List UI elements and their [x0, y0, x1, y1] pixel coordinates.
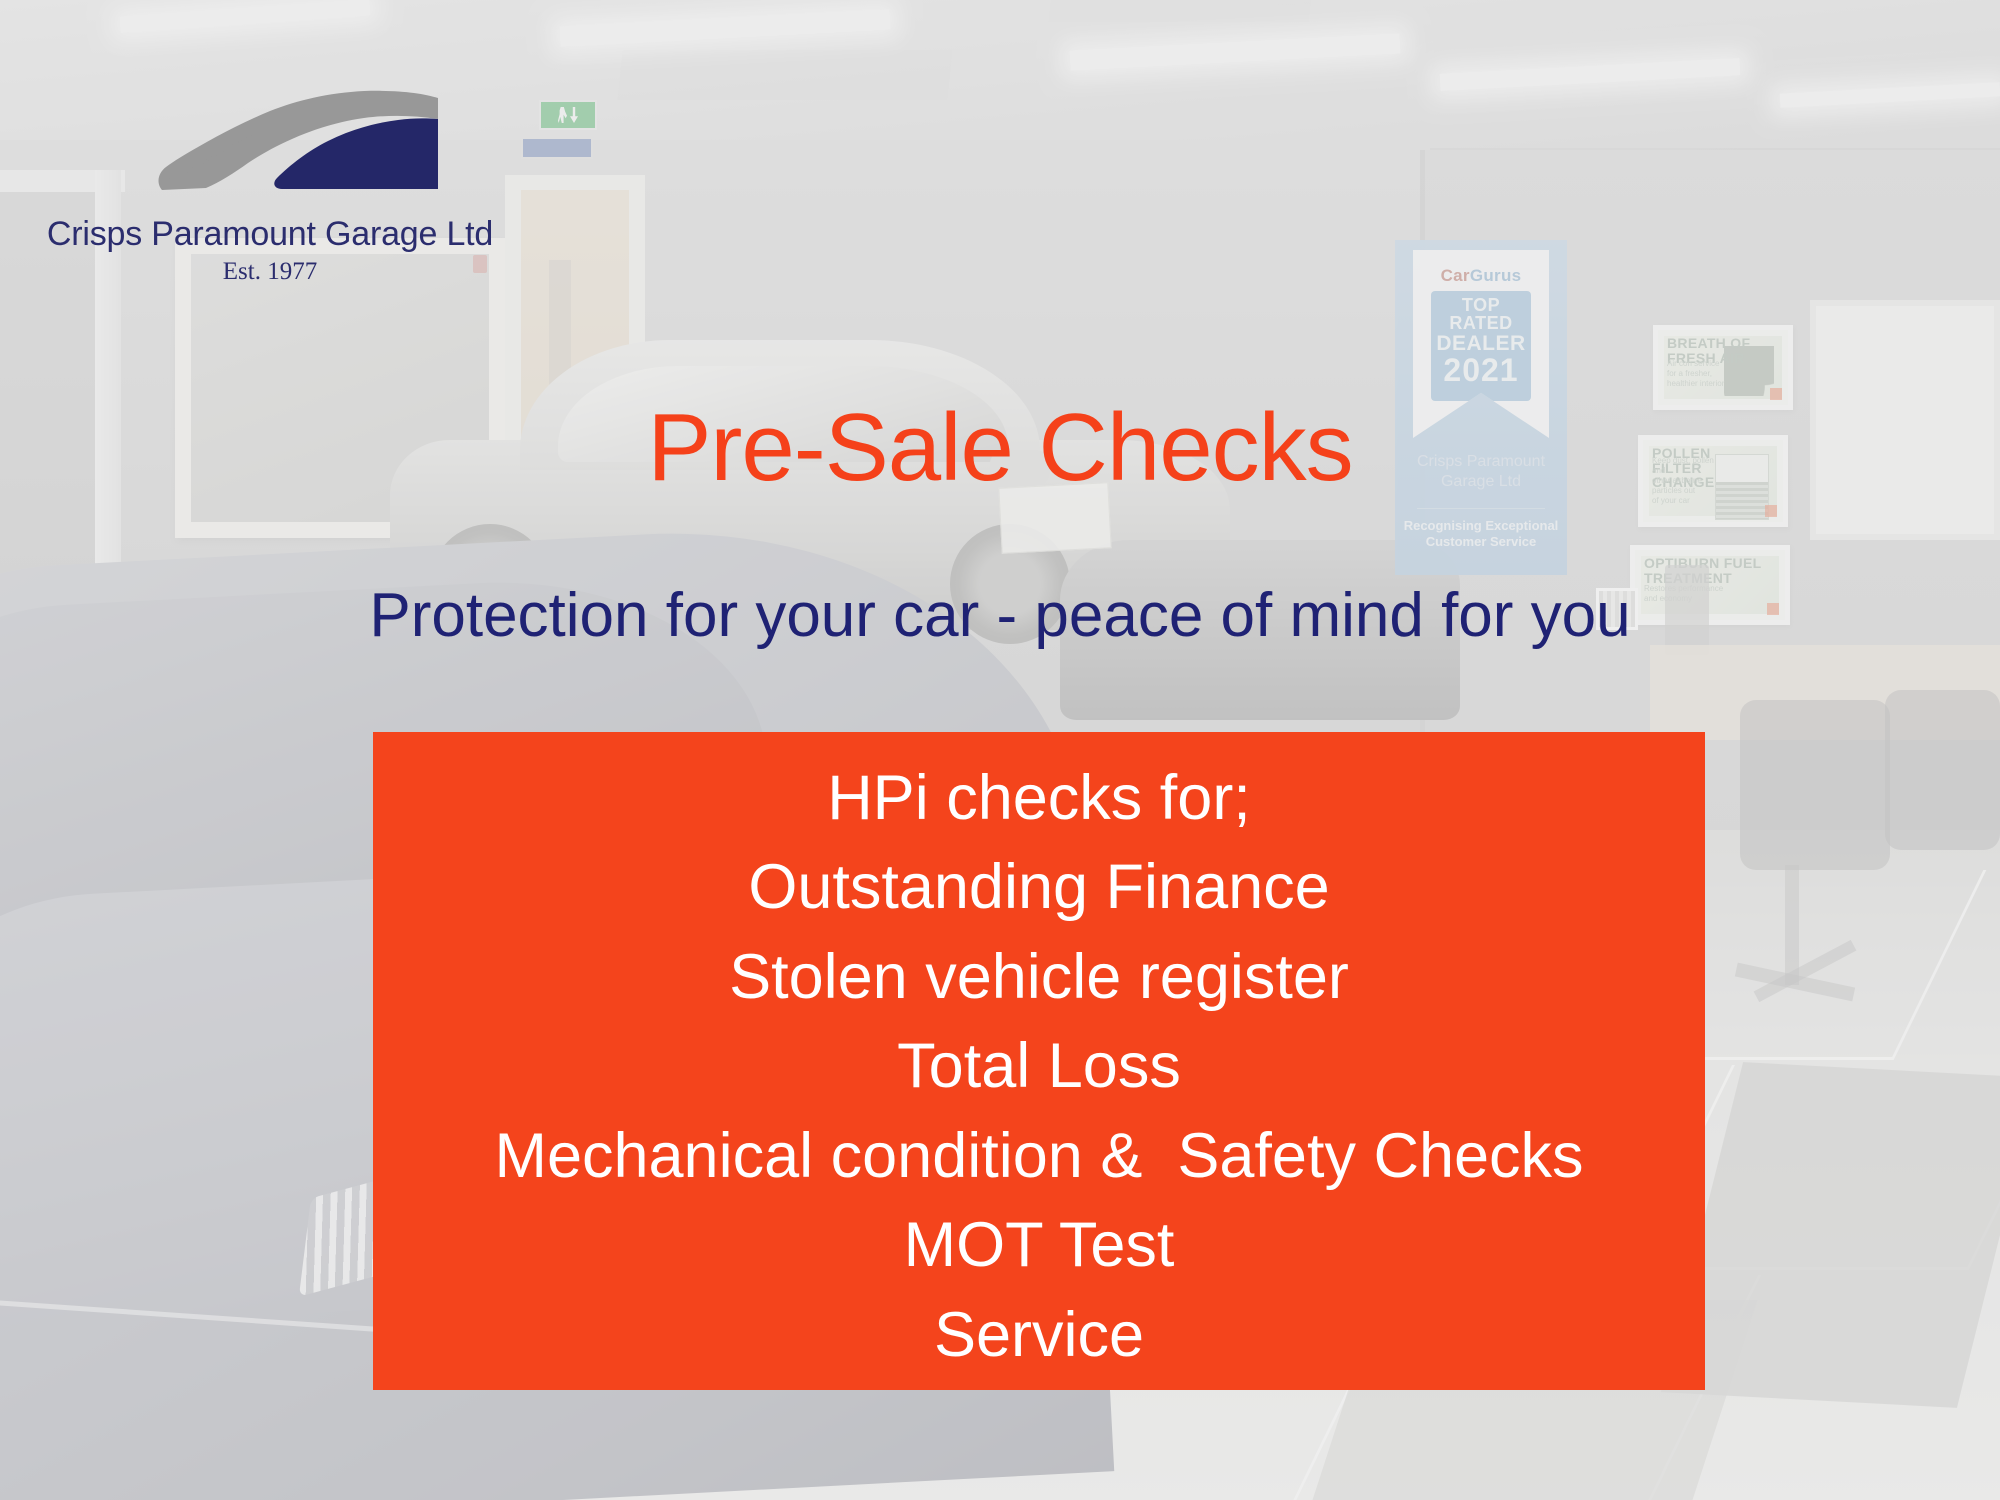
company-name: Crisps Paramount Garage Ltd: [40, 215, 500, 254]
slide-subtitle: Protection for your car - peace of mind …: [0, 585, 2000, 647]
established-year: Est. 1977: [40, 258, 500, 286]
brand-dot-icon: [1765, 505, 1777, 517]
office-chair: [1885, 690, 2000, 850]
ceiling-vent-2: [1049, 0, 1312, 22]
cargurus-brand-second: Gurus: [1470, 266, 1522, 285]
badge-line-1: TOP RATED: [1431, 296, 1531, 333]
checklist-item: HPi checks for;: [827, 754, 1251, 843]
company-logo: Crisps Paramount Garage Ltd Est. 1977: [40, 85, 560, 286]
poster-body: Air con service for a fresher, healthier…: [1667, 359, 1736, 389]
ceiling-vent: [617, 50, 952, 100]
brand-dot-icon: [1770, 388, 1782, 400]
cargurus-logo: CarGurus: [1413, 266, 1549, 286]
top-rated-dealer-badge: TOP RATED DEALER 2021: [1431, 291, 1531, 401]
cargurus-brand-first: Car: [1441, 266, 1470, 285]
checklist-item: Stolen vehicle register: [729, 933, 1349, 1022]
wall-poster-breath-of-fresh-air: BREATH OF FRESH AIR Air con service for …: [1653, 325, 1793, 410]
badge-line-2: DEALER: [1431, 333, 1531, 354]
checklist-item: Total Loss: [897, 1022, 1181, 1111]
banner-tagline: Recognising Exceptional Customer Service: [1395, 518, 1567, 551]
checklist-item: Mechanical condition & Safety Checks: [494, 1112, 1583, 1201]
badge-year: 2021: [1431, 354, 1531, 387]
office-chair: [1740, 700, 1890, 870]
car-silhouette-icon: [150, 85, 450, 205]
banner-divider: [1417, 508, 1545, 509]
slide-canvas: CarGurus TOP RATED DEALER 2021 Crisps Pa…: [0, 0, 2000, 1500]
checklist-item: MOT Test: [904, 1201, 1175, 1290]
checklist-item: Service: [934, 1291, 1144, 1380]
checklist-panel: HPi checks for; Outstanding Finance Stol…: [373, 732, 1705, 1390]
checklist-item: Outstanding Finance: [748, 843, 1329, 932]
arrow-down-icon: [570, 107, 578, 123]
slide-title: Pre-Sale Checks: [0, 400, 2000, 496]
